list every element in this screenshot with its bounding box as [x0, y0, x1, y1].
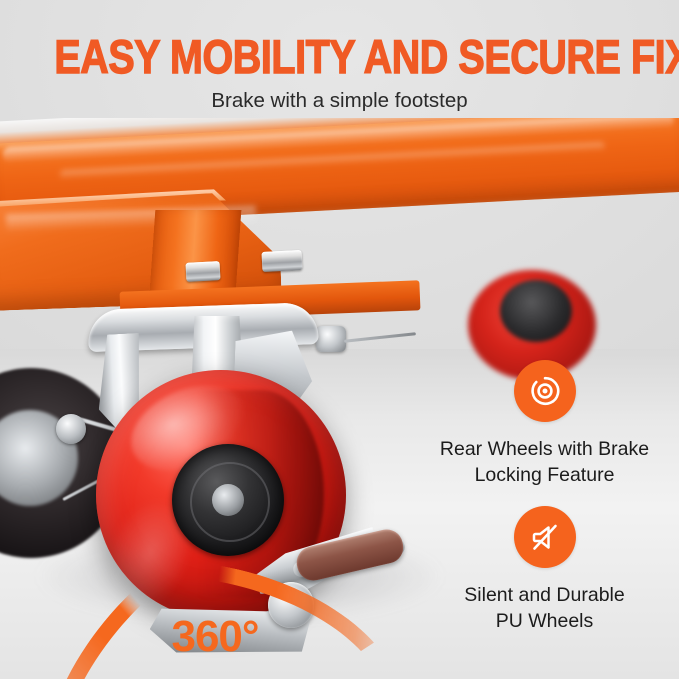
cotter-pin	[344, 332, 416, 343]
feature-text-line2: Locking Feature	[410, 462, 679, 488]
linkage-pin-head	[56, 414, 86, 444]
rotation-badge-label: 360°	[0, 615, 430, 659]
hub-center-cap	[212, 484, 244, 516]
page-title: EASY MOBILITY AND SECURE FIXATION	[54, 32, 624, 82]
feature-text: Silent and Durable PU Wheels	[410, 582, 679, 634]
feature-text-line1: Silent and Durable	[410, 582, 679, 608]
feature-text-line2: PU Wheels	[410, 608, 679, 634]
feature-text-line1: Rear Wheels with Brake	[410, 436, 679, 462]
feature-list: Rear Wheels with Brake Locking Feature S…	[410, 360, 679, 652]
chrome-hex-bolt	[186, 261, 221, 282]
mute-speaker-icon	[514, 506, 576, 568]
page-subtitle: Brake with a simple footstep	[0, 88, 679, 114]
brake-disc-icon	[514, 360, 576, 422]
product-feature-banner: EASY MOBILITY AND SECURE FIXATION Brake …	[0, 0, 679, 679]
feature-item-brake-locking: Rear Wheels with Brake Locking Feature	[410, 360, 679, 488]
axle-bolt	[316, 326, 346, 352]
chrome-hex-bolt	[262, 250, 303, 272]
rear-wheel-hub	[500, 280, 572, 342]
feature-item-silent-wheels: Silent and Durable PU Wheels	[410, 506, 679, 634]
feature-text: Rear Wheels with Brake Locking Feature	[410, 436, 679, 488]
